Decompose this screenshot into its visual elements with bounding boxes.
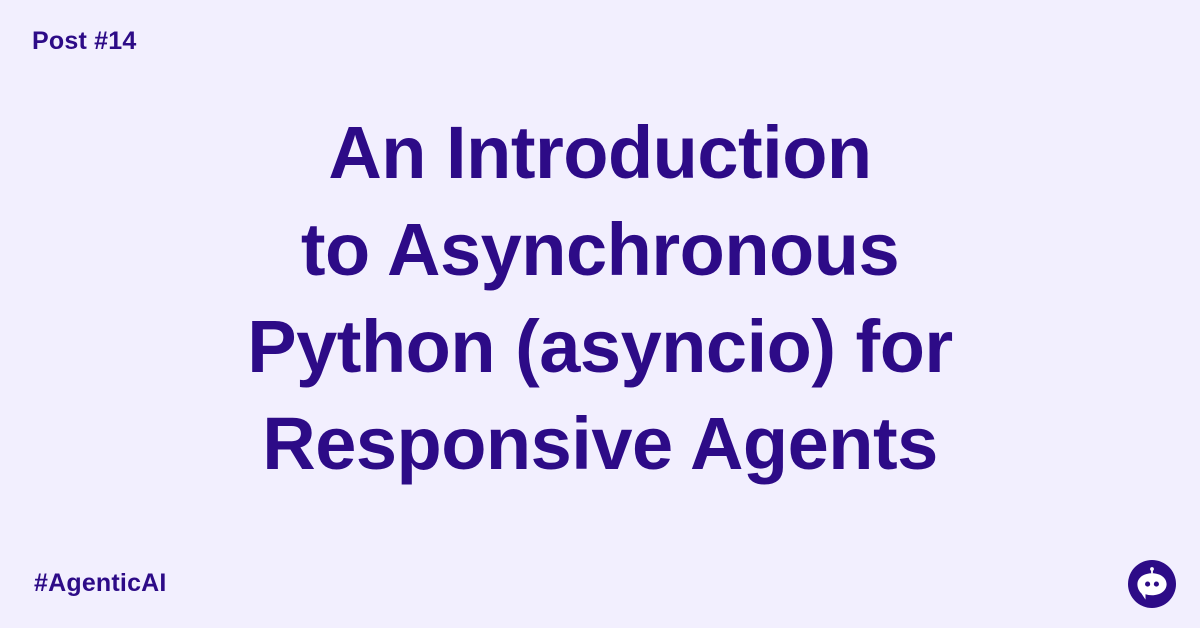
page-title: An Introduction to Asynchronous Python (… (0, 104, 1200, 492)
social-post-card: Post #14 An Introduction to Asynchronous… (0, 0, 1200, 628)
hashtag-label: #AgenticAI (34, 571, 167, 596)
robot-chat-bubble-icon (1128, 560, 1176, 608)
title-line-1: An Introduction (0, 104, 1200, 201)
title-line-2: to Asynchronous (0, 201, 1200, 298)
post-counter-label: Post #14 (32, 29, 136, 54)
title-line-3: Python (asyncio) for (0, 298, 1200, 395)
title-line-4: Responsive Agents (0, 395, 1200, 492)
